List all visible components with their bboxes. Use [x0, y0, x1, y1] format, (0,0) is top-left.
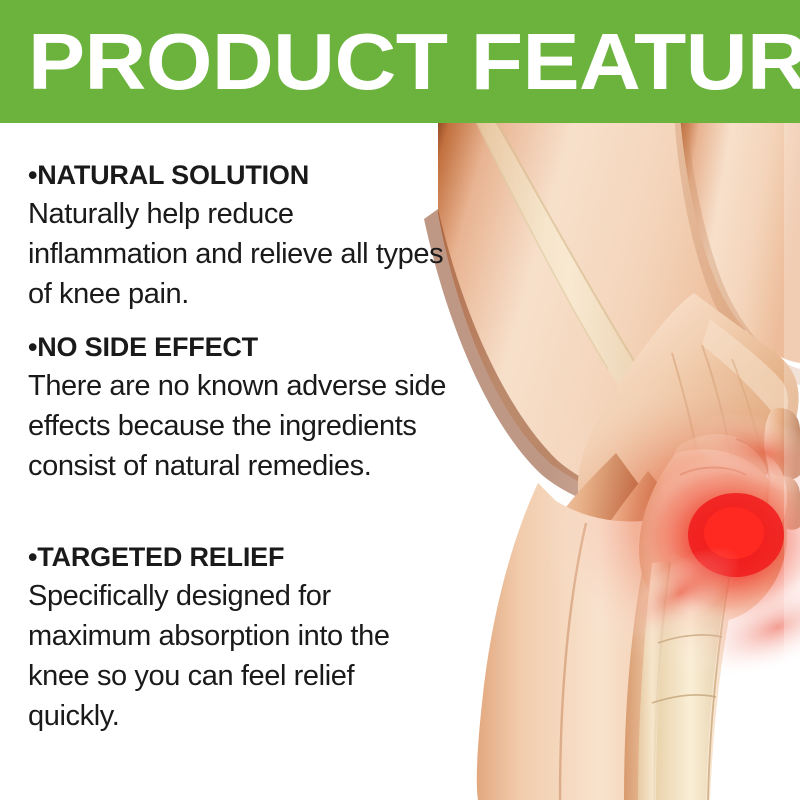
feature-item-targeted-relief: •TARGETED RELIEF Specifically designed f… [28, 540, 452, 736]
feature-item-natural-solution: •NATURAL SOLUTION Naturally help reduce … [28, 158, 452, 314]
feature-body: Specifically designed for maximum absorp… [28, 576, 452, 736]
product-features-poster: PRODUCT FEATURES •NATURAL SOLUTION Natur… [0, 0, 800, 800]
feature-heading: •NO SIDE EFFECT [28, 330, 452, 364]
header-banner: PRODUCT FEATURES [0, 0, 800, 123]
page-title: PRODUCT FEATURES [28, 14, 800, 110]
feature-item-no-side-effect: •NO SIDE EFFECT There are no known adver… [28, 330, 452, 486]
feature-body: Naturally help reduce inflammation and r… [28, 194, 452, 314]
feature-heading: •TARGETED RELIEF [28, 540, 452, 574]
feature-heading: •NATURAL SOLUTION [28, 158, 452, 192]
feature-body: There are no known adverse side effects … [28, 366, 452, 486]
